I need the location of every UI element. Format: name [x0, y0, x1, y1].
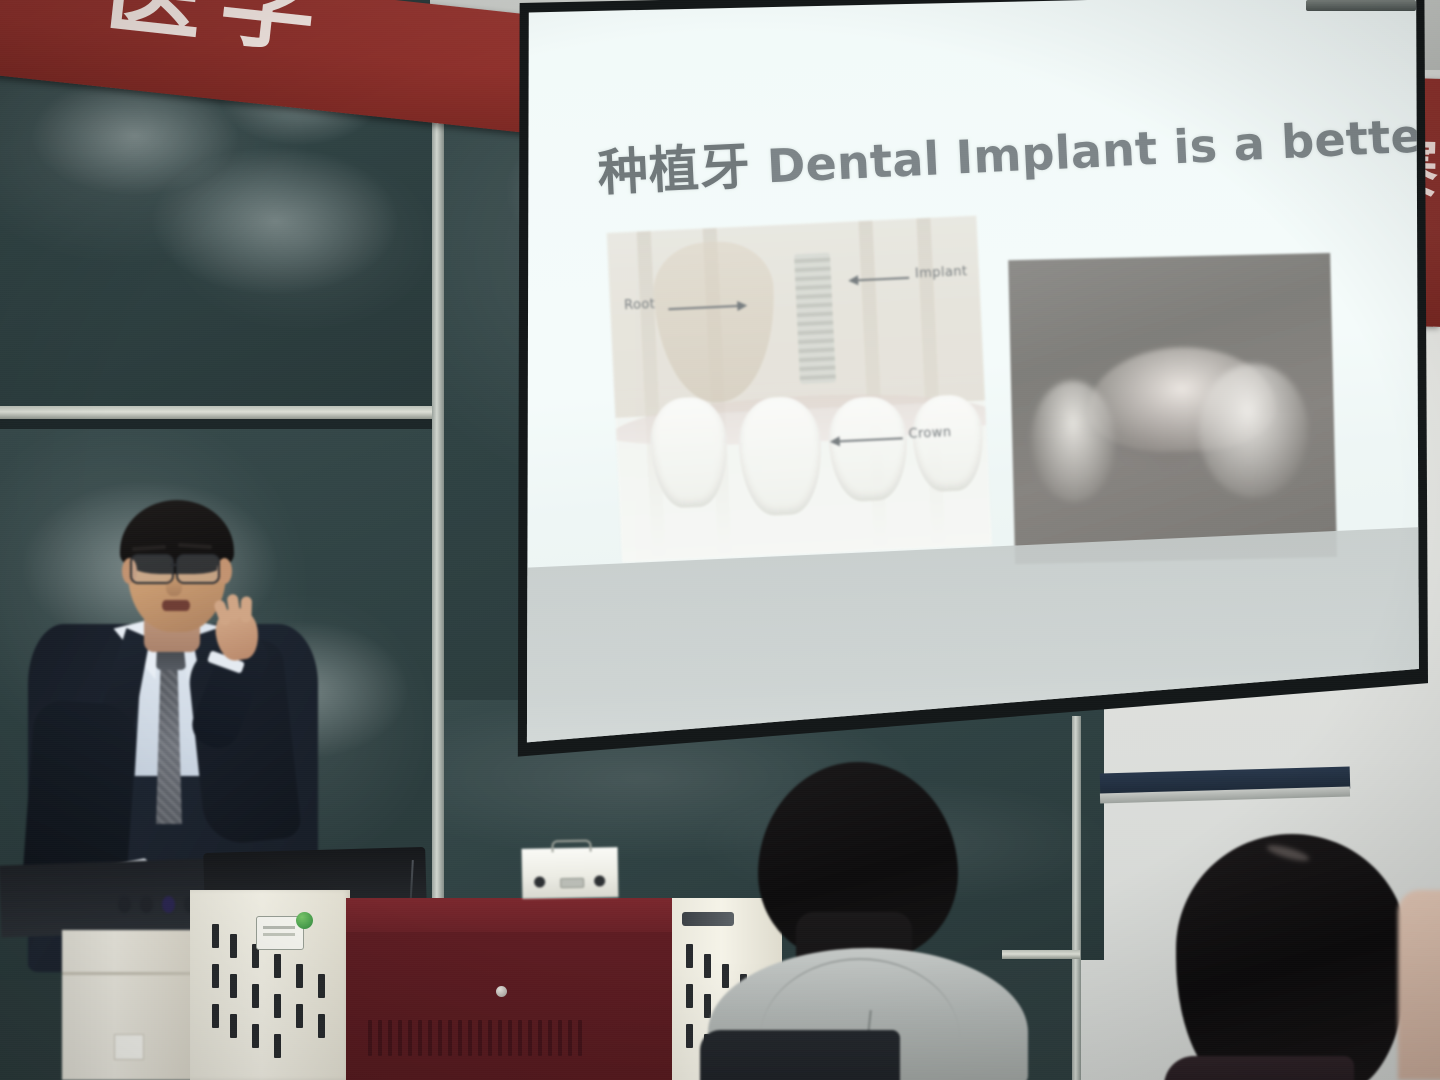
tooth-2	[737, 395, 824, 517]
audience-member-center	[700, 762, 1040, 1080]
board-divider-vertical-1	[432, 24, 444, 984]
slide-title-cn: 种植牙	[597, 137, 753, 202]
projection-screen: 种植牙 Dental Implant is a better choice	[516, 0, 1428, 774]
slide-title-en: Dental Implant is a better choice	[766, 99, 1428, 194]
dental-implant-diagram: Root Implant Crown	[607, 216, 992, 563]
implant-screw-shape	[794, 253, 836, 385]
root-label: Root	[624, 297, 656, 313]
glasses-bridge-icon	[170, 564, 178, 566]
audience-right-shoulder	[1164, 1056, 1354, 1080]
presenter-nose	[166, 576, 182, 596]
presenter-mouth	[162, 600, 190, 611]
audience-center-jacket	[700, 1030, 900, 1080]
glasses-lens-right-icon	[176, 554, 220, 584]
screen-surface: 种植牙 Dental Implant is a better choice	[516, 0, 1428, 774]
podium-lock-knob[interactable]	[496, 986, 507, 997]
photo-tooth-right	[1197, 363, 1309, 499]
crown-label: Crown	[908, 425, 952, 442]
slide-title: 种植牙 Dental Implant is a better choice	[596, 85, 1428, 206]
tooth-3	[827, 395, 910, 503]
audience-member-far-right	[1398, 890, 1440, 1080]
cabinet-slot	[114, 1034, 144, 1060]
podium-rack-center	[346, 898, 676, 1080]
audience-right-hair	[1176, 834, 1408, 1080]
green-sticker-icon	[296, 912, 313, 929]
board-rail-shadow-left	[0, 419, 432, 429]
podium-white-device[interactable]	[522, 847, 619, 899]
board-chalk-rail-left	[0, 406, 432, 419]
screen-mount-bracket	[1306, 0, 1416, 11]
banner-left-text: 医学	[101, 0, 343, 74]
implant-label: Implant	[915, 264, 968, 281]
podium-rack-left	[190, 890, 350, 1080]
tooth-4	[911, 394, 985, 493]
lecture-hall-scene: 医学 赛 种植牙 Dental Implant is a better choi…	[0, 0, 1440, 1080]
equipment-cabinet-left	[62, 930, 194, 1080]
crown-photo	[1008, 253, 1337, 564]
